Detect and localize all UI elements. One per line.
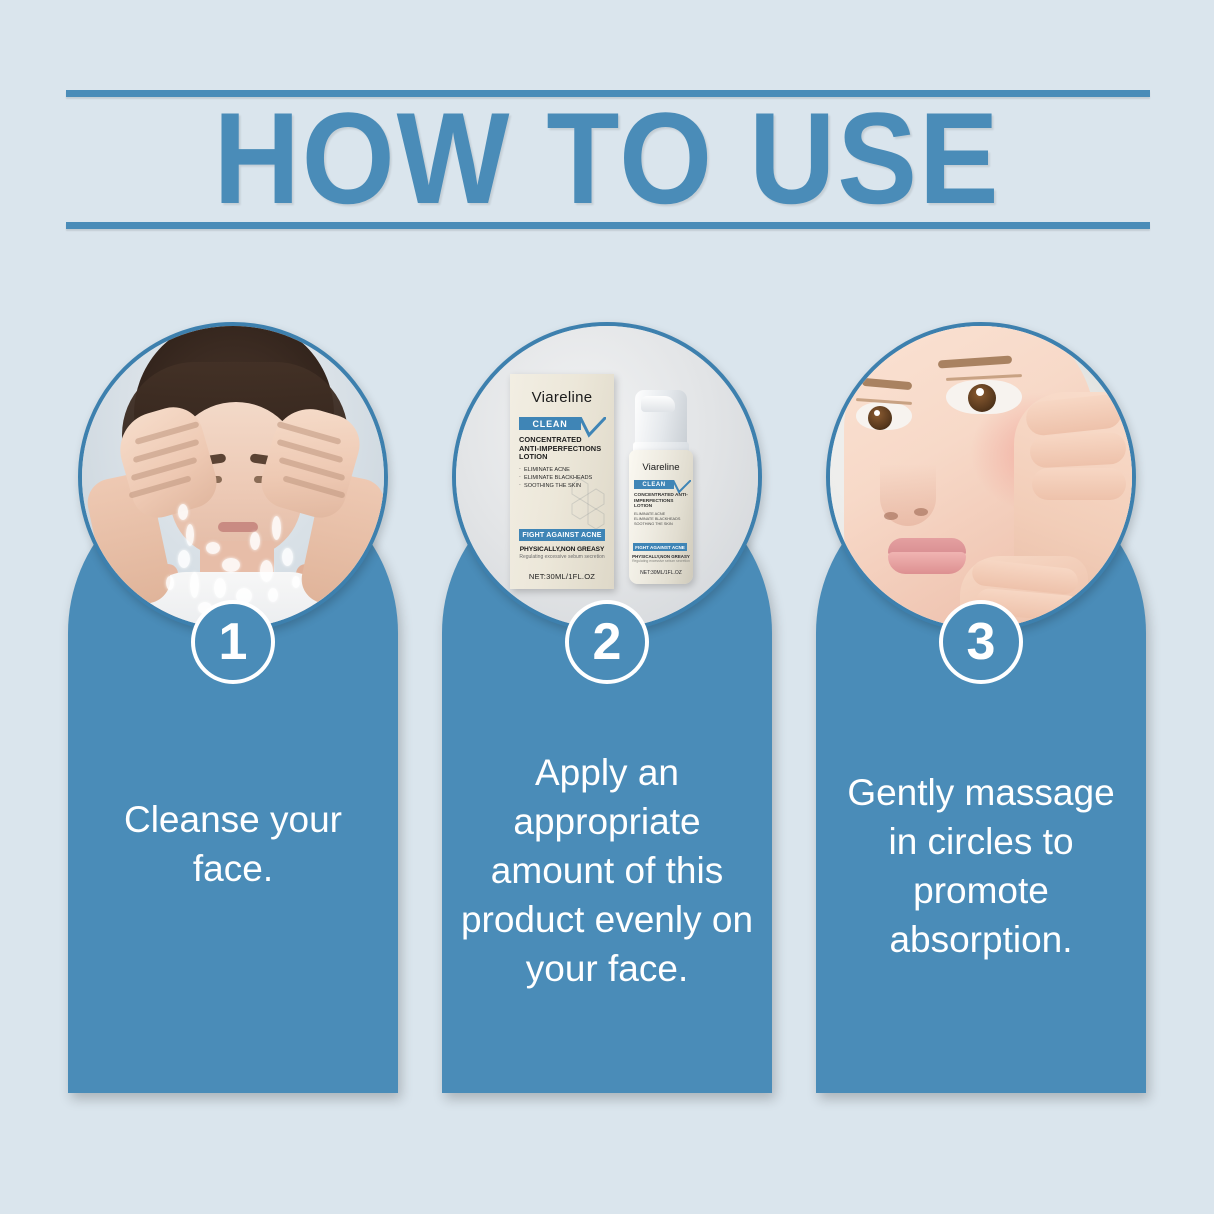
product-subtitle-box: CONCENTRATED ANTI-IMPERFECTIONS LOTION <box>519 436 603 462</box>
product-benefits-box: ELIMINATE ACNE ELIMINATE BLACKHEADS SOOT… <box>519 466 595 490</box>
product-box: Viareline CLEAN CONCENTRATED ANTI-IMPERF… <box>510 374 614 589</box>
regulating-text-box: Regulating excessive sebum secretion <box>515 554 609 560</box>
product-benefits-bottle: ELIMINATE ACNE ELIMINATE BLACKHEADS SOOT… <box>634 512 686 527</box>
washing-face-illustration <box>82 326 384 628</box>
bottle-body: Viareline CLEAN CONCENTRATED ANTI-IMPERF… <box>629 450 693 584</box>
clean-badge-bottle: CLEAN <box>634 480 674 489</box>
product-shot: Viareline CLEAN CONCENTRATED ANTI-IMPERF… <box>456 326 758 628</box>
step-photo-3 <box>826 322 1136 632</box>
step-number-badge-1: 1 <box>191 600 275 684</box>
step-photo-1 <box>78 322 388 632</box>
step-card-3: 3 Gently massage in circles to promote a… <box>816 300 1146 1100</box>
net-weight-box: NET:30ML/1FL.OZ <box>510 572 614 581</box>
step-number-badge-3: 3 <box>939 600 1023 684</box>
product-subtitle-bottle: CONCENTRATED ANTI-IMPERFECTIONS LOTION <box>634 493 688 510</box>
pump-nozzle <box>641 396 675 412</box>
benefit-item: ELIMINATE BLACKHEADS <box>519 474 595 482</box>
step-card-1: 1 Cleanse your face. <box>68 300 398 1100</box>
steps-container: 1 Cleanse your face. Viareline CLEAN CON… <box>0 0 1214 1214</box>
fight-acne-badge-bottle: FIGHT AGAINST ACNE <box>633 543 687 551</box>
benefit-item: SOOTHING THE SKIN <box>634 522 686 527</box>
benefit-item: SOOTHING THE SKIN <box>519 482 595 490</box>
regulating-text-bottle: Regulating excessive sebum secretion <box>631 559 691 563</box>
step-caption-1: Cleanse your face. <box>84 795 382 893</box>
product-brand-bottle: Viareline <box>629 462 693 473</box>
step-photo-2: Viareline CLEAN CONCENTRATED ANTI-IMPERF… <box>452 322 762 632</box>
non-greasy-text-box: PHYSICALLY,NON GREASY <box>515 546 609 553</box>
face-massage-illustration <box>830 326 1132 628</box>
net-weight-bottle: NET:30ML/1FL.OZ <box>629 570 693 576</box>
step-number-badge-2: 2 <box>565 600 649 684</box>
benefit-item: ELIMINATE ACNE <box>519 466 595 474</box>
step-card-2: Viareline CLEAN CONCENTRATED ANTI-IMPERF… <box>442 300 772 1100</box>
fight-acne-badge-box: FIGHT AGAINST ACNE <box>519 529 605 541</box>
clean-badge-box: CLEAN <box>519 417 581 430</box>
step-caption-2: Apply an appropriate amount of this prod… <box>458 748 756 993</box>
product-pump-bottle: Viareline CLEAN CONCENTRATED ANTI-IMPERF… <box>626 390 696 584</box>
product-brand-box: Viareline <box>510 389 614 406</box>
step-caption-3: Gently massage in circles to promote abs… <box>832 768 1130 964</box>
